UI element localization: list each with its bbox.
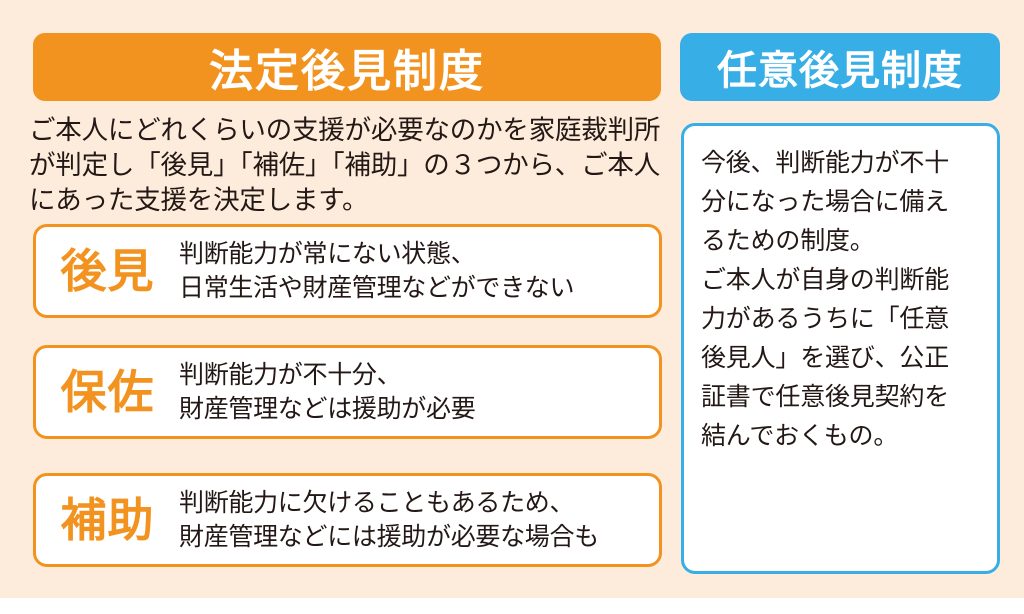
voluntary-guardianship-header-label: 任意後見制度 [717, 38, 963, 96]
card-desc-line: 判断能力が常にない状態、 [179, 237, 649, 271]
legal-guardianship-column: ご本人にどれくらいの支援が必要なのかを家庭裁判所 が判定し「後見」「補佐」「補助… [0, 0, 670, 598]
card-label-kouken: 後見 [36, 248, 179, 294]
voluntary-line: ご本人が自身の判断能 [701, 260, 997, 299]
voluntary-line: 今後、判断能力が不十 [701, 143, 997, 182]
card-label-hosa: 保佐 [36, 369, 179, 415]
guardianship-type-card: 補助 判断能力に欠けることもあるため、 財産管理などには援助が必要な場合も [33, 473, 662, 567]
guardianship-type-card: 後見 判断能力が常にない状態、 日常生活や財産管理などができない [33, 224, 662, 318]
voluntary-guardianship-description: 今後、判断能力が不十 分になった場合に備え るための制度。 ご本人が自身の判断能… [701, 143, 997, 455]
card-description-kouken: 判断能力が常にない状態、 日常生活や財産管理などができない [179, 237, 659, 305]
guardianship-type-card: 保佐 判断能力が不十分、 財産管理などは援助が必要 [33, 345, 662, 439]
card-desc-line: 判断能力が不十分、 [179, 358, 649, 392]
card-desc-line: 財産管理などは援助が必要 [179, 392, 649, 426]
voluntary-line: 力があるうちに「任意 [701, 299, 997, 338]
intro-line-2: が判定し「後見」「補佐」「補助」の３つから、ご本人 [29, 148, 661, 183]
card-description-hojo: 判断能力に欠けることもあるため、 財産管理などには援助が必要な場合も [179, 486, 659, 554]
intro-line-1: ご本人にどれくらいの支援が必要なのかを家庭裁判所 [29, 113, 661, 148]
voluntary-guardianship-panel: 今後、判断能力が不十 分になった場合に備え るための制度。 ご本人が自身の判断能… [681, 123, 1000, 574]
infographic-canvas: 法定後見制度 任意後見制度 ご本人にどれくらいの支援が必要なのかを家庭裁判所 が… [0, 0, 1024, 598]
voluntary-line: 証書で任意後見契約を [701, 377, 997, 416]
intro-line-3: にあった支援を決定します。 [29, 183, 661, 218]
card-description-hosa: 判断能力が不十分、 財産管理などは援助が必要 [179, 358, 659, 426]
card-label-hojo: 補助 [36, 497, 179, 543]
voluntary-line: 後見人」を選び、公正 [701, 338, 997, 377]
infographic-page: 法定後見制度 任意後見制度 ご本人にどれくらいの支援が必要なのかを家庭裁判所 が… [0, 0, 1024, 614]
card-desc-line: 財産管理などには援助が必要な場合も [179, 520, 649, 554]
voluntary-guardianship-header: 任意後見制度 [680, 33, 1000, 101]
voluntary-line: 結んでおくもの。 [701, 416, 997, 455]
card-desc-line: 判断能力に欠けることもあるため、 [179, 486, 649, 520]
voluntary-line: るための制度。 [701, 221, 997, 260]
card-desc-line: 日常生活や財産管理などができない [179, 271, 649, 305]
legal-guardianship-intro: ご本人にどれくらいの支援が必要なのかを家庭裁判所 が判定し「後見」「補佐」「補助… [29, 113, 661, 218]
voluntary-line: 分になった場合に備え [701, 182, 997, 221]
